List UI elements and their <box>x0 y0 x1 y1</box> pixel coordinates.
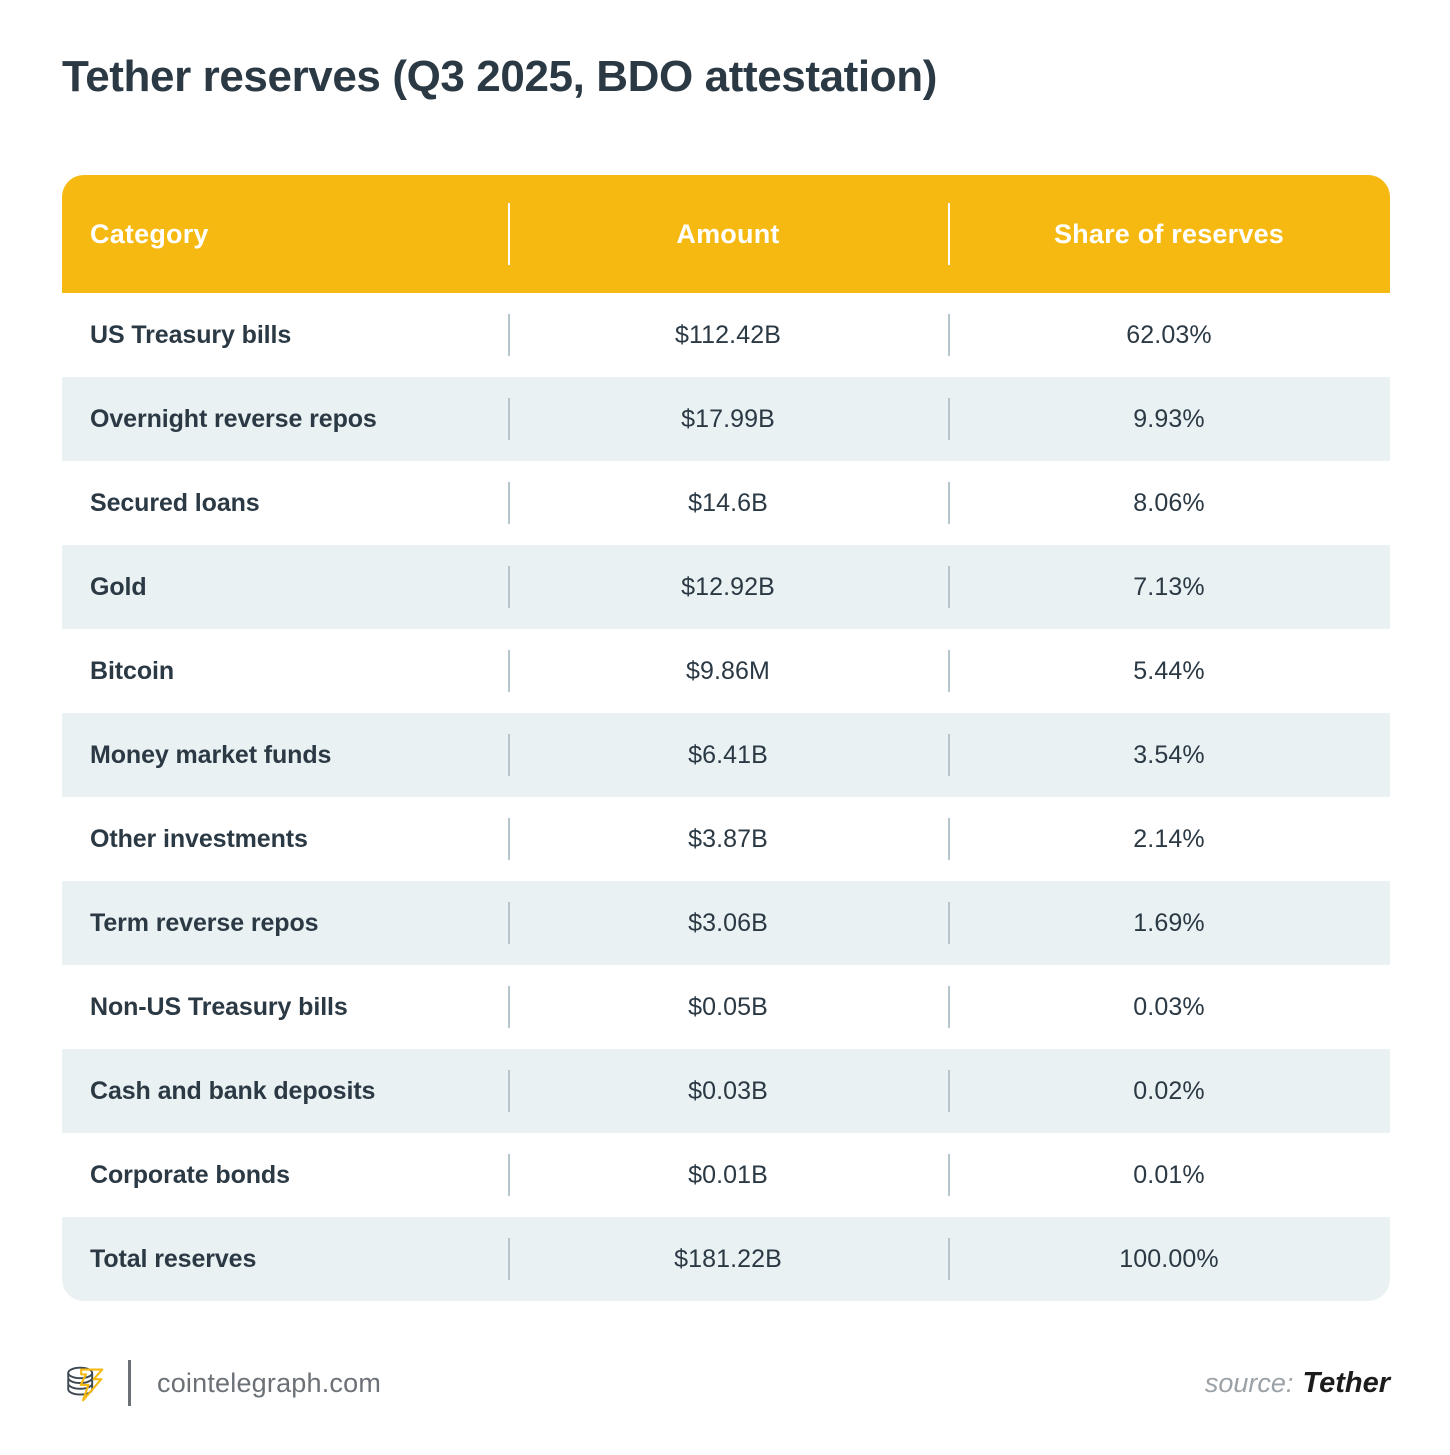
table-header-row: Category Amount Share of reserves <box>62 175 1390 293</box>
reserves-table: Category Amount Share of reserves US Tre… <box>62 175 1390 1301</box>
cell-text-share: 0.02% <box>1133 1077 1204 1106</box>
site-url: cointelegraph.com <box>157 1368 381 1399</box>
row-cell-share: 8.06% <box>948 461 1390 545</box>
row-cell-share: 100.00% <box>948 1217 1390 1301</box>
table-row: Bitcoin $9.86M 5.44% <box>62 629 1390 713</box>
cell-text-category: US Treasury bills <box>90 321 291 350</box>
row-cell-category: Bitcoin <box>62 629 508 713</box>
cell-text-amount: $9.86M <box>686 657 770 686</box>
cell-text-category: Corporate bonds <box>90 1161 290 1190</box>
cell-text-share: 1.69% <box>1133 909 1204 938</box>
cell-text-category: Gold <box>90 573 147 602</box>
source-label: source: <box>1205 1368 1294 1399</box>
table-row: Overnight reverse repos $17.99B 9.93% <box>62 377 1390 461</box>
cell-text-amount: $6.41B <box>688 741 768 770</box>
cell-text-amount: $17.99B <box>681 405 775 434</box>
cell-text-amount: $0.03B <box>688 1077 768 1106</box>
cell-text-category: Total reserves <box>90 1245 256 1274</box>
brand-block[interactable]: cointelegraph.com <box>62 1340 381 1426</box>
cell-text-share: 5.44% <box>1133 657 1204 686</box>
row-cell-category: Total reserves <box>62 1217 508 1301</box>
row-cell-category: Gold <box>62 545 508 629</box>
table-row: Gold $12.92B 7.13% <box>62 545 1390 629</box>
cell-text-category: Term reverse repos <box>90 909 318 938</box>
row-cell-amount: $6.41B <box>508 713 948 797</box>
cell-text-amount: $0.01B <box>688 1161 768 1190</box>
cell-text-category: Non-US Treasury bills <box>90 993 348 1022</box>
cell-text-share: 100.00% <box>1119 1245 1218 1274</box>
cell-text-share: 2.14% <box>1133 825 1204 854</box>
table-row: Term reverse repos $3.06B 1.69% <box>62 881 1390 965</box>
row-cell-share: 5.44% <box>948 629 1390 713</box>
cell-text-category: Overnight reverse repos <box>90 405 377 434</box>
row-cell-category: Term reverse repos <box>62 881 508 965</box>
infographic-page: Tether reserves (Q3 2025, BDO attestatio… <box>0 0 1450 1455</box>
source-name: Tether <box>1302 1367 1390 1400</box>
row-cell-amount: $9.86M <box>508 629 948 713</box>
row-cell-category: Secured loans <box>62 461 508 545</box>
row-cell-share: 1.69% <box>948 881 1390 965</box>
table-total-row: Total reserves $181.22B 100.00% <box>62 1217 1390 1301</box>
row-cell-amount: $14.6B <box>508 461 948 545</box>
footer-divider <box>128 1360 131 1406</box>
header-cell-category: Category <box>62 175 508 293</box>
row-cell-amount: $112.42B <box>508 293 948 377</box>
row-cell-share: 9.93% <box>948 377 1390 461</box>
table-row: Other investments $3.87B 2.14% <box>62 797 1390 881</box>
row-cell-share: 62.03% <box>948 293 1390 377</box>
table-row: Cash and bank deposits $0.03B 0.02% <box>62 1049 1390 1133</box>
table-row: Corporate bonds $0.01B 0.01% <box>62 1133 1390 1217</box>
row-cell-category: Corporate bonds <box>62 1133 508 1217</box>
cell-text-amount: $3.87B <box>688 825 768 854</box>
cell-text-category: Cash and bank deposits <box>90 1077 375 1106</box>
cell-text-share: 0.01% <box>1133 1161 1204 1190</box>
row-cell-category: Cash and bank deposits <box>62 1049 508 1133</box>
table-row: US Treasury bills $112.42B 62.03% <box>62 293 1390 377</box>
cell-text-share: 3.54% <box>1133 741 1204 770</box>
row-cell-category: Non-US Treasury bills <box>62 965 508 1049</box>
row-cell-amount: $3.87B <box>508 797 948 881</box>
row-cell-amount: $17.99B <box>508 377 948 461</box>
row-cell-amount: $0.05B <box>508 965 948 1049</box>
table-row: Secured loans $14.6B 8.06% <box>62 461 1390 545</box>
cell-text-category: Secured loans <box>90 489 260 518</box>
row-cell-category: Overnight reverse repos <box>62 377 508 461</box>
cell-text-amount: $0.05B <box>688 993 768 1022</box>
header-label-share: Share of reserves <box>1054 219 1284 250</box>
header-label-amount: Amount <box>676 219 779 250</box>
cell-text-amount: $14.6B <box>688 489 768 518</box>
row-cell-amount: $12.92B <box>508 545 948 629</box>
table-row: Non-US Treasury bills $0.05B 0.03% <box>62 965 1390 1049</box>
row-cell-amount: $181.22B <box>508 1217 948 1301</box>
row-cell-category: Other investments <box>62 797 508 881</box>
row-cell-share: 0.02% <box>948 1049 1390 1133</box>
row-cell-category: Money market funds <box>62 713 508 797</box>
row-cell-share: 0.01% <box>948 1133 1390 1217</box>
row-cell-share: 3.54% <box>948 713 1390 797</box>
cell-text-share: 0.03% <box>1133 993 1204 1022</box>
header-cell-amount: Amount <box>508 175 948 293</box>
row-cell-amount: $3.06B <box>508 881 948 965</box>
cell-text-share: 8.06% <box>1133 489 1204 518</box>
row-cell-amount: $0.01B <box>508 1133 948 1217</box>
cell-text-share: 9.93% <box>1133 405 1204 434</box>
cell-text-amount: $12.92B <box>681 573 775 602</box>
row-cell-share: 0.03% <box>948 965 1390 1049</box>
header-label-category: Category <box>90 219 209 250</box>
cell-text-category: Other investments <box>90 825 308 854</box>
row-cell-amount: $0.03B <box>508 1049 948 1133</box>
cell-text-share: 62.03% <box>1126 321 1211 350</box>
page-title: Tether reserves (Q3 2025, BDO attestatio… <box>62 52 937 102</box>
row-cell-share: 2.14% <box>948 797 1390 881</box>
cell-text-amount: $112.42B <box>675 321 781 350</box>
footer: cointelegraph.com source: Tether <box>62 1340 1390 1426</box>
cell-text-amount: $181.22B <box>674 1245 782 1274</box>
cell-text-share: 7.13% <box>1133 573 1204 602</box>
cell-text-amount: $3.06B <box>688 909 768 938</box>
cell-text-category: Bitcoin <box>90 657 174 686</box>
cointelegraph-coin-bolt-logo-icon <box>62 1360 108 1406</box>
source-attribution: source: Tether <box>1205 1367 1390 1400</box>
header-cell-share: Share of reserves <box>948 175 1390 293</box>
cell-text-category: Money market funds <box>90 741 331 770</box>
row-cell-category: US Treasury bills <box>62 293 508 377</box>
table-row: Money market funds $6.41B 3.54% <box>62 713 1390 797</box>
row-cell-share: 7.13% <box>948 545 1390 629</box>
